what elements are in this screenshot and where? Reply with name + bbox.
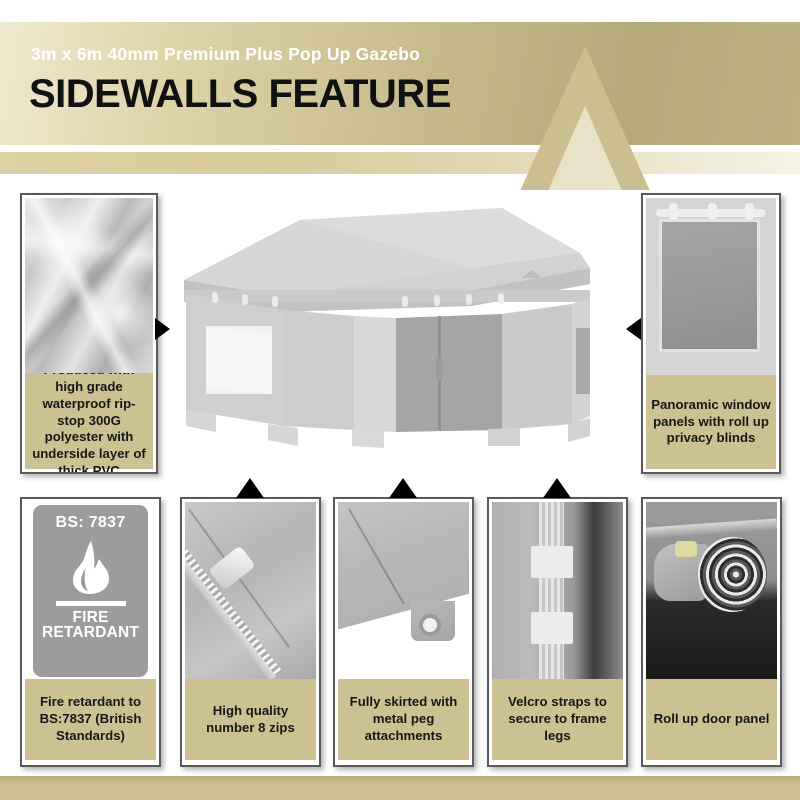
- pointer-arrow-up-icon: [543, 478, 571, 498]
- infographic-page: 3m x 6m 40mm Premium Plus Pop Up Gazebo …: [0, 0, 800, 800]
- pointer-arrow-right-icon: [155, 318, 170, 340]
- caption-text: Fire retardant to BS:7837 (British Stand…: [29, 694, 152, 744]
- page-title: SIDEWALLS FEATURE: [29, 74, 451, 114]
- feature-caption: High quality number 8 zips: [182, 679, 319, 763]
- feature-caption: Produced with high grade waterproof rip-…: [22, 373, 156, 472]
- caption-text: Fully skirted with metal peg attachments: [342, 694, 465, 744]
- pointer-arrow-up-icon: [389, 478, 417, 498]
- header-chevron-graphic: [500, 40, 680, 190]
- footer-band: [0, 776, 800, 800]
- fabric-closeup-photo: [22, 195, 156, 373]
- header-accent-strip: [0, 152, 800, 174]
- product-subtitle: 3m x 6m 40mm Premium Plus Pop Up Gazebo: [31, 44, 420, 65]
- feature-card-fire-retardant[interactable]: BS: 7837 FIRE RETARDANT Fire retardant t…: [20, 497, 161, 767]
- flame-icon: [64, 539, 118, 595]
- feature-caption: Fully skirted with metal peg attachments: [335, 679, 472, 763]
- feature-caption: Roll up door panel: [643, 679, 780, 763]
- feature-card-skirt[interactable]: Fully skirted with metal peg attachments: [333, 497, 474, 767]
- fire-label-line2: RETARDANT: [42, 625, 139, 641]
- pointer-arrow-left-icon: [626, 318, 641, 340]
- caption-text: Velcro straps to secure to frame legs: [496, 694, 619, 744]
- zipper-closeup-photo: [182, 499, 319, 679]
- window-panel-photo: [643, 195, 779, 375]
- velcro-strap-photo: [489, 499, 626, 679]
- feature-caption: Fire retardant to BS:7837 (British Stand…: [22, 679, 159, 763]
- feature-caption: Panoramic window panels with roll up pri…: [643, 375, 779, 472]
- feature-card-rollup-door[interactable]: Roll up door panel: [641, 497, 782, 767]
- skirt-eyelet-photo: [335, 499, 472, 679]
- feature-card-window[interactable]: Panoramic window panels with roll up pri…: [641, 193, 781, 474]
- caption-text: Roll up door panel: [650, 711, 773, 728]
- caption-text: Produced with high grade waterproof rip-…: [29, 362, 149, 474]
- rolled-door-photo: [643, 499, 780, 679]
- fire-retardant-badge: BS: 7837 FIRE RETARDANT: [22, 499, 159, 679]
- caption-text: High quality number 8 zips: [189, 703, 312, 737]
- gazebo-product-photo: [172, 198, 622, 448]
- caption-text: Panoramic window panels with roll up pri…: [650, 397, 772, 447]
- pointer-arrow-up-icon: [236, 478, 264, 498]
- feature-card-fabric[interactable]: Produced with high grade waterproof rip-…: [20, 193, 158, 474]
- bs-standard-label: BS: 7837: [56, 514, 126, 532]
- fire-label-line1: FIRE: [42, 610, 139, 626]
- feature-caption: Velcro straps to secure to frame legs: [489, 679, 626, 763]
- feature-card-zips[interactable]: High quality number 8 zips: [180, 497, 321, 767]
- feature-card-velcro[interactable]: Velcro straps to secure to frame legs: [487, 497, 628, 767]
